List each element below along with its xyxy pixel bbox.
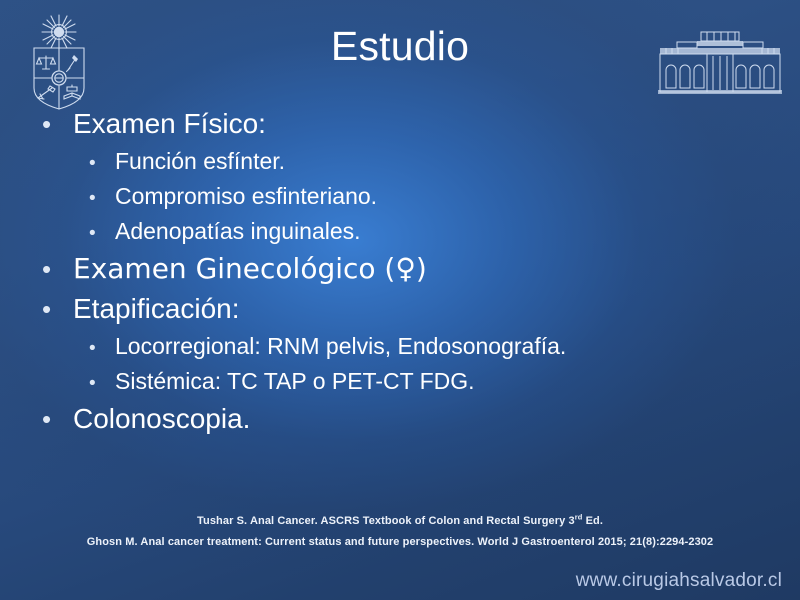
bullet-label: Adenopatías inguinales. [115, 214, 361, 249]
bullet-item: • Examen Ginecológico (♀) [0, 249, 780, 289]
bullet-marker-icon: • [42, 399, 73, 439]
reference-1-text: Tushar S. Anal Cancer. ASCRS Textbook of… [197, 515, 575, 527]
bullet-marker-icon: • [42, 104, 73, 144]
bullet-label: Examen Ginecológico (♀) [73, 249, 427, 289]
presentation-slide: Estudio • Examen Físico: • Función esfín… [0, 0, 800, 600]
bullet-item: • Función esfínter. [0, 144, 780, 179]
bullet-label: Compromiso esfinteriano. [115, 179, 377, 214]
bullet-list: • Examen Físico: • Función esfínter. • C… [0, 104, 780, 439]
bullet-item: • Colonoscopia. [0, 399, 780, 439]
reference-block: Tushar S. Anal Cancer. ASCRS Textbook of… [0, 511, 800, 553]
bullet-label: Etapificación: [73, 289, 240, 329]
bullet-marker-icon: • [89, 181, 115, 216]
bullet-item: • Locorregional: RNM pelvis, Endosonogra… [0, 329, 780, 364]
bullet-item: • Sistémica: TC TAP o PET-CT FDG. [0, 364, 780, 399]
slide-title: Estudio [0, 22, 800, 70]
bullet-label: Sistémica: TC TAP o PET-CT FDG. [115, 364, 475, 399]
bullet-item: • Etapificación: [0, 289, 780, 329]
bullet-label: Colonoscopia. [73, 399, 250, 439]
bullet-item: • Compromiso esfinteriano. [0, 179, 780, 214]
bullet-marker-icon: • [42, 249, 73, 289]
footer-website-url[interactable]: www.cirugiahsalvador.cl [576, 568, 782, 594]
reference-line-1: Tushar S. Anal Cancer. ASCRS Textbook of… [0, 511, 800, 532]
bullet-label: Locorregional: RNM pelvis, Endosonografí… [115, 329, 566, 364]
bullet-marker-icon: • [89, 146, 115, 181]
reference-1-suffix: Ed. [582, 515, 603, 527]
bullet-item: • Examen Físico: [0, 104, 780, 144]
bullet-label: Función esfínter. [115, 144, 285, 179]
reference-line-2: Ghosn M. Anal cancer treatment: Current … [0, 532, 800, 553]
bullet-label: Examen Físico: [73, 104, 266, 144]
bullet-marker-icon: • [89, 366, 115, 401]
bullet-marker-icon: • [89, 331, 115, 366]
bullet-marker-icon: • [89, 216, 115, 251]
bullet-item: • Adenopatías inguinales. [0, 214, 780, 249]
bullet-marker-icon: • [42, 289, 73, 329]
